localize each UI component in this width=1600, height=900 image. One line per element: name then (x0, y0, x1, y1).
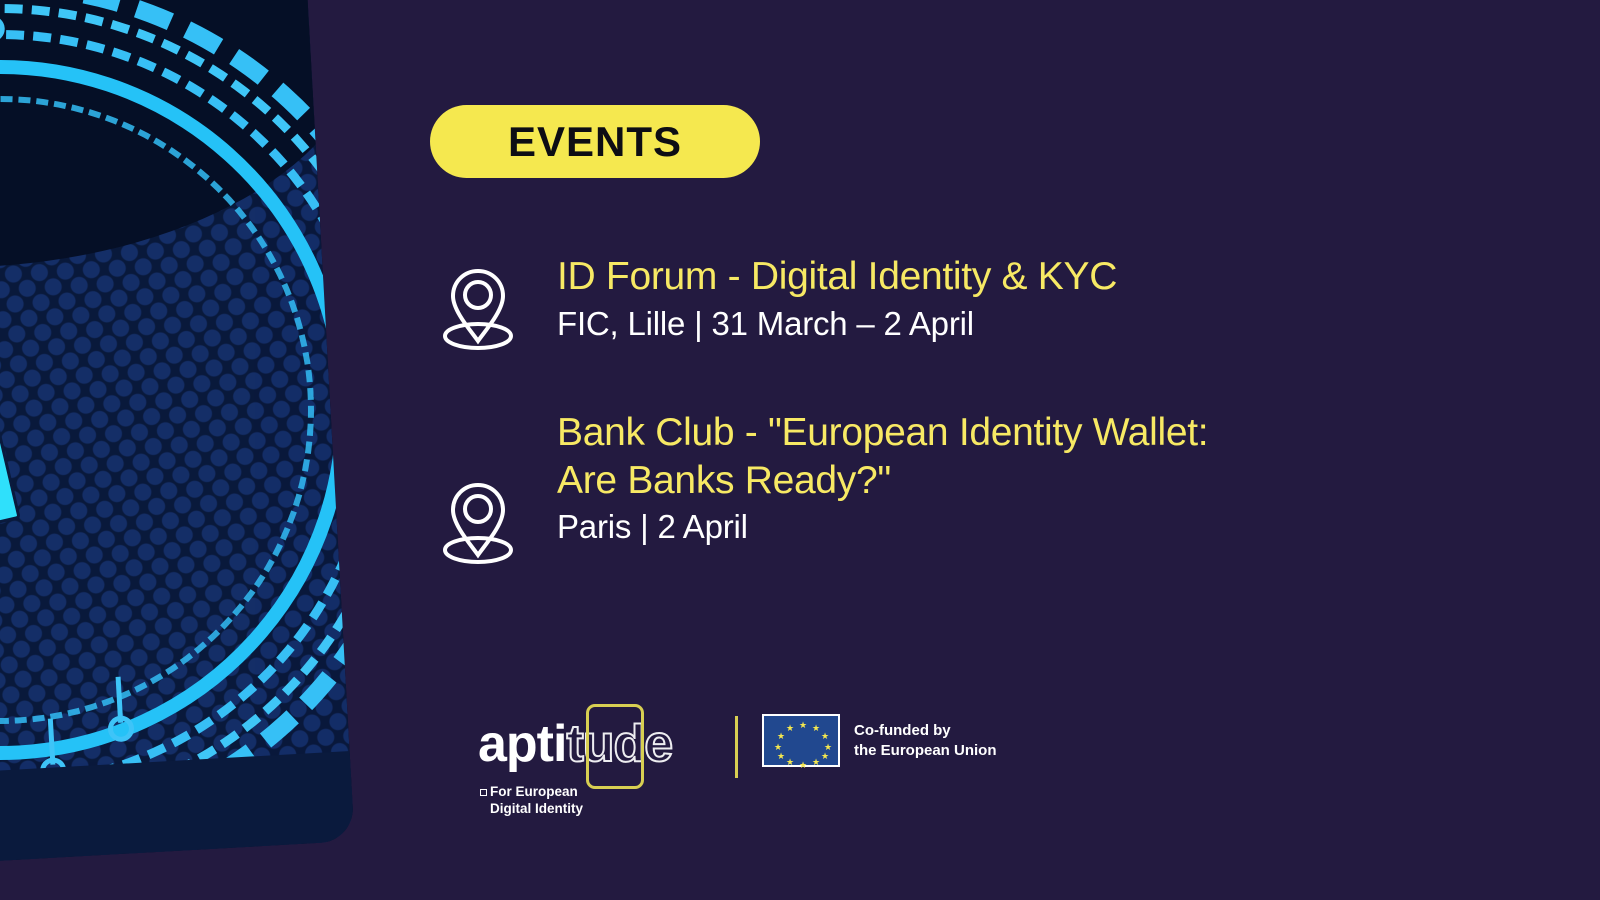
location-pin-icon (430, 473, 525, 573)
european-union-flag: ★ ★ ★ ★ ★ ★ ★ ★ ★ ★ ★ ★ (762, 714, 840, 767)
aptitude-wordmark-solid: apti (478, 715, 566, 773)
illustration-card (0, 0, 355, 878)
eu-funding-logo: ★ ★ ★ ★ ★ ★ ★ ★ ★ ★ ★ ★ Co-funded by the… (762, 714, 997, 767)
event-text: Bank Club - "European Identity Wallet: A… (525, 411, 1208, 549)
slide-root: EVENTS ID Forum - Digital Identity & KYC… (0, 0, 1600, 900)
content-column: EVENTS ID Forum - Digital Identity & KYC… (430, 0, 1600, 900)
eu-funding-text-line2: the European Union (854, 742, 997, 759)
illustration-dark-bottom (0, 748, 355, 878)
event-title-line1: Bank Club - "European Identity Wallet: (557, 411, 1208, 455)
eu-funding-text: Co-funded by the European Union (854, 721, 997, 760)
aptitude-tagline: For European Digital Identity (480, 784, 583, 818)
eu-funding-text-line1: Co-funded by (854, 722, 951, 739)
aptitude-tagline-line1: For European (490, 784, 578, 799)
location-pin-icon (430, 259, 525, 359)
footer-divider (735, 716, 738, 778)
aptitude-logo-frame-icon (586, 704, 644, 789)
events-list: ID Forum - Digital Identity & KYC FIC, L… (430, 255, 1590, 625)
event-title: ID Forum - Digital Identity & KYC (557, 255, 1117, 299)
tagline-square-icon (480, 789, 487, 796)
event-title-line2: Are Banks Ready?" (557, 459, 1208, 503)
aptitude-tagline-line2: Digital Identity (490, 801, 583, 816)
event-item: ID Forum - Digital Identity & KYC FIC, L… (430, 255, 1590, 359)
event-item: Bank Club - "European Identity Wallet: A… (430, 411, 1590, 573)
events-badge: EVENTS (430, 105, 760, 178)
event-text: ID Forum - Digital Identity & KYC FIC, L… (525, 255, 1117, 346)
event-subtitle: FIC, Lille | 31 March – 2 April (557, 303, 1117, 346)
footer-logos: aptitude For European Digital Identity ★… (478, 700, 997, 820)
aptitude-logo: aptitude For European Digital Identity (478, 700, 713, 820)
event-subtitle: Paris | 2 April (557, 506, 1208, 549)
digital-wallet-illustration (0, 0, 355, 878)
events-badge-label: EVENTS (508, 118, 682, 166)
